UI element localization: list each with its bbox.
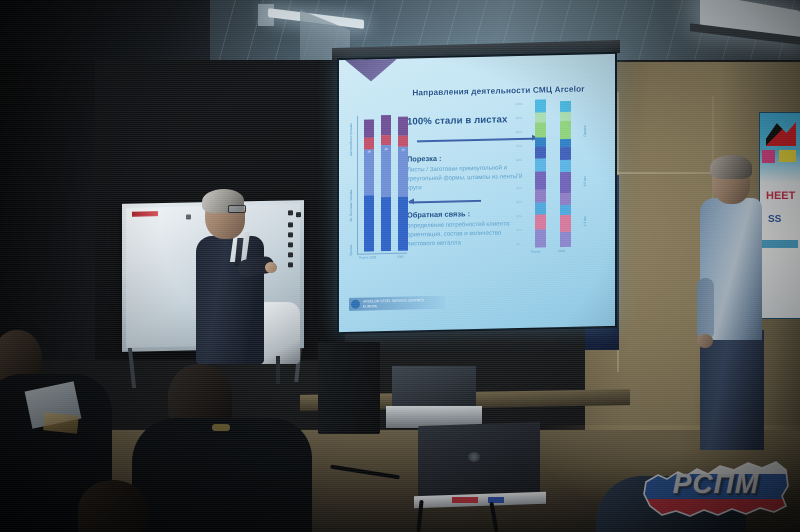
av-control-unit [392, 366, 476, 410]
left-bar-1-seg-body [364, 149, 374, 195]
left-bar-2: 15 [381, 115, 391, 251]
left-bar-1-seg-top [364, 119, 374, 137]
poster-line2: SS [768, 214, 781, 225]
right-bar-2-seg-11 [560, 232, 571, 247]
left-chart-axis-y [357, 116, 358, 254]
right-bar-1-seg-8 [535, 189, 546, 202]
laptop-logo-icon [468, 452, 480, 462]
flipchart-marker-1 [288, 210, 293, 215]
slide-chevron-decoration [345, 59, 397, 82]
attendee-standing-hair [710, 155, 752, 179]
left-bar-1-seg-low [364, 195, 374, 251]
attendee-seated-center-shoulders [132, 418, 312, 532]
left-chart-category-3: 2005 [397, 255, 404, 259]
right-bar-1-seg-7 [535, 171, 546, 189]
poster-yellow-block [779, 150, 796, 162]
attendee-seated-bottom-head [78, 480, 148, 532]
photo-scene: HEET SS Направления деятельности СМЦ Arc… [0, 0, 800, 532]
watermark: РСПМ [640, 448, 792, 524]
left-chart-axis-label-mid: Эл. Бытовая техника [349, 190, 353, 222]
left-bar-2-seg-body [381, 145, 391, 197]
right-bar-2-seg-4 [560, 139, 571, 147]
slide-bullet-1-body: Листы / Заготовки прямоугольной и треуго… [407, 164, 527, 193]
attendee-standing-trousers [700, 330, 764, 450]
projection-screen: Направления деятельности СМЦ Arcelor 100… [337, 52, 617, 334]
right-bar-2-seg-10 [560, 215, 571, 232]
slide-surface: Направления деятельности СМЦ Arcelor 100… [339, 54, 615, 332]
right-chart-axis-label-1: Прочее [583, 125, 587, 136]
av-speaker [318, 342, 380, 434]
right-chart-tick-5: 50% [516, 172, 522, 176]
attendee-standing-arm [697, 278, 714, 340]
left-bar-2-seg-low [381, 197, 391, 251]
poster-pink-block [762, 150, 775, 163]
right-bar-1-seg-3 [535, 122, 546, 137]
slide-headline: 100% стали в листах [407, 113, 547, 127]
right-bar-2-seg-8 [560, 193, 571, 205]
attendee-seated-center-collar [212, 424, 230, 431]
slide-arrow-left [409, 200, 481, 203]
right-chart-tick-1: 90% [516, 116, 522, 120]
right-bar-2-seg-2 [560, 112, 571, 121]
right-chart-axis-label-2: 3-5 мм [583, 176, 587, 186]
left-bar-2-seg-top [381, 115, 391, 135]
laptop-sticker-red [452, 497, 478, 503]
presenter-laptop[interactable] [418, 422, 540, 500]
left-bar-3-seg-mid [398, 136, 408, 147]
right-chart-tick-9: 10% [516, 228, 522, 232]
left-bar-1-seg-mid [364, 137, 374, 149]
right-bar-1-seg-1 [535, 99, 546, 112]
right-bar-2-seg-5 [560, 147, 571, 160]
flipchart-marker-6 [288, 252, 293, 257]
right-chart-tick-7: 30% [516, 200, 522, 204]
left-bar-2-value: 15 [381, 147, 391, 151]
poster-footer-bar [761, 240, 798, 248]
left-bar-3-seg-low [398, 197, 408, 251]
chair-leg [276, 356, 280, 384]
right-chart-tick-2: 80% [516, 130, 522, 134]
left-chart-category-1: Рынок 1998 [359, 255, 376, 259]
left-bar-1-value: 18 [364, 149, 374, 153]
left-bar-3-seg-top [398, 117, 408, 136]
flipchart-marker-4 [288, 232, 293, 237]
left-bar-3-value: 14 [398, 148, 408, 152]
slide-bullet-1-head: Порезка : [407, 154, 441, 164]
flipchart-marker-7 [288, 262, 293, 267]
right-bar-1-seg-5 [535, 146, 546, 158]
watermark-text: РСПМ [640, 468, 792, 500]
right-chart-category-1: Рынок [531, 250, 540, 254]
right-chart-tick-6: 40% [516, 186, 522, 190]
right-bar-1-seg-2 [535, 112, 546, 122]
right-chart-tick-3: 70% [516, 144, 522, 148]
right-bar-2-seg-6 [560, 160, 571, 172]
poster-line1: HEET [766, 190, 795, 202]
attendee-left-papers-2 [43, 412, 79, 433]
flipchart-red-tab [132, 211, 158, 217]
right-bar-2-seg-1 [560, 101, 571, 112]
right-bar-2 [560, 101, 571, 247]
left-bar-3: 14 [398, 117, 408, 251]
right-chart-axis-label-3: 1-3 мм [583, 216, 587, 226]
left-bar-3-seg-body [398, 147, 408, 197]
flipchart-marker-5 [288, 242, 293, 247]
right-chart-tick-4: 60% [516, 158, 522, 162]
right-bar-1-seg-9 [535, 202, 546, 214]
slide-title: Направления деятельности СМЦ Arcelor [391, 84, 606, 98]
flipchart-marker-2 [296, 212, 301, 217]
left-bar-1: 18 [364, 119, 374, 251]
presenter-hand [265, 262, 277, 273]
presenter-glasses [228, 205, 246, 213]
right-bar-1-seg-11 [535, 229, 546, 247]
left-chart-axis-label-bottom: Прочее [349, 244, 353, 255]
right-bar-1-seg-6 [535, 158, 546, 171]
right-bar-2-seg-7 [560, 172, 571, 193]
right-bar-1-seg-4 [535, 137, 546, 146]
left-bar-2-seg-mid [381, 135, 391, 145]
right-bar-2-seg-9 [560, 205, 571, 215]
flipchart-dot-left [186, 214, 191, 219]
right-chart-tick-8: 20% [516, 214, 522, 218]
right-bar-1 [535, 99, 546, 247]
flipchart-marker-3 [288, 222, 293, 227]
right-chart-category-2: СМЦ [558, 249, 565, 253]
right-bar-2-seg-3 [560, 121, 571, 139]
slide-arrow-right [417, 138, 537, 142]
slide-bullet-2-body: определение потребностей клиента: ориент… [407, 220, 527, 249]
white-chair [258, 302, 300, 364]
slide-logo-text: ARCELOR STEEL SERVICE CENTRES EUROPE [363, 298, 433, 310]
right-bar-1-seg-10 [535, 214, 546, 229]
right-chart-tick-10: 0% [516, 242, 520, 246]
right-chart-tick-0: 100% [515, 102, 523, 106]
left-chart-axis-label-top: Автомобилестроение [349, 123, 353, 156]
attendee-standing-hand [697, 334, 713, 348]
slide-bullet-2-head: Обратная связь : [407, 209, 470, 219]
